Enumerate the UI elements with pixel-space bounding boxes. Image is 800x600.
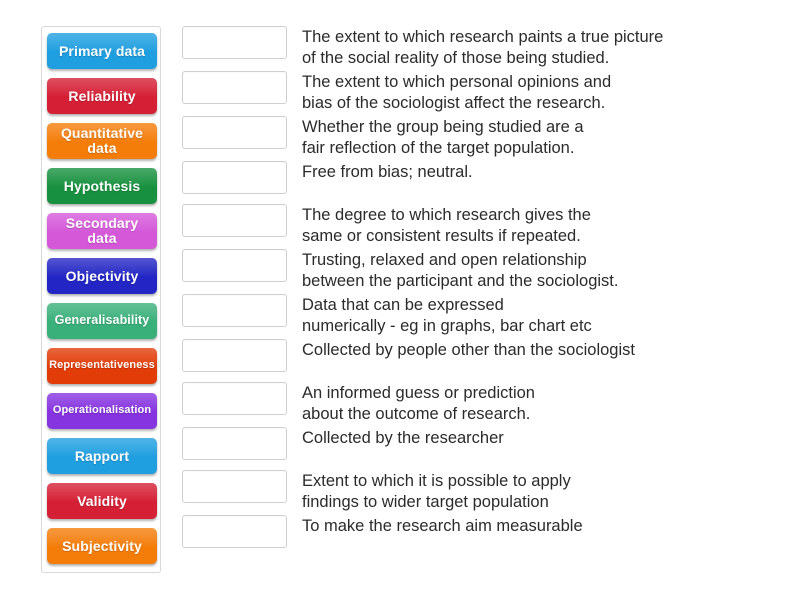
definition-row: To make the research aim measurable xyxy=(182,515,792,548)
term-tile[interactable]: Representativeness xyxy=(47,348,157,384)
term-tile[interactable]: Objectivity xyxy=(47,258,157,294)
term-tile-label: Validity xyxy=(77,494,127,509)
answer-drop-box[interactable] xyxy=(182,26,287,59)
answer-drop-box[interactable] xyxy=(182,470,287,503)
term-tile-label: Subjectivity xyxy=(62,539,142,554)
definition-row: Collected by people other than the socio… xyxy=(182,339,792,372)
definition-text: Data that can be expressed numerically -… xyxy=(302,294,792,337)
definition-row: The extent to which personal opinions an… xyxy=(182,71,792,114)
answer-drop-box[interactable] xyxy=(182,249,287,282)
term-tiles-panel: Primary dataReliabilityQuantitative data… xyxy=(41,26,161,573)
term-tile-label: Rapport xyxy=(75,449,129,464)
term-tile-label: Primary data xyxy=(59,44,145,59)
definition-text: An informed guess or prediction about th… xyxy=(302,382,792,425)
term-tile-label: Hypothesis xyxy=(64,179,140,194)
answer-drop-box[interactable] xyxy=(182,515,287,548)
term-tile-label: Secondary data xyxy=(66,216,139,245)
definition-row: Extent to which it is possible to apply … xyxy=(182,470,792,513)
definition-text: The extent to which research paints a tr… xyxy=(302,26,792,69)
term-tile[interactable]: Hypothesis xyxy=(47,168,157,204)
term-tile[interactable]: Subjectivity xyxy=(47,528,157,564)
match-up-activity: Primary dataReliabilityQuantitative data… xyxy=(0,0,800,600)
answer-drop-box[interactable] xyxy=(182,382,287,415)
answer-drop-box[interactable] xyxy=(182,204,287,237)
definition-rows-panel: The extent to which research paints a tr… xyxy=(182,26,792,558)
definition-row: Collected by the researcher xyxy=(182,427,792,460)
definition-text: To make the research aim measurable xyxy=(302,515,792,537)
answer-drop-box[interactable] xyxy=(182,161,287,194)
definition-row: Data that can be expressed numerically -… xyxy=(182,294,792,337)
term-tile[interactable]: Validity xyxy=(47,483,157,519)
definition-text: Whether the group being studied are a fa… xyxy=(302,116,792,159)
answer-drop-box[interactable] xyxy=(182,116,287,149)
definition-text: Collected by the researcher xyxy=(302,427,792,449)
term-tile-label: Generalisability xyxy=(55,314,150,327)
definition-text: Trusting, relaxed and open relationship … xyxy=(302,249,792,292)
term-tile[interactable]: Rapport xyxy=(47,438,157,474)
term-tile-label: Quantitative data xyxy=(61,126,143,155)
term-tile[interactable]: Secondary data xyxy=(47,213,157,249)
definition-text: Free from bias; neutral. xyxy=(302,161,792,183)
definition-text: The degree to which research gives the s… xyxy=(302,204,792,247)
term-tile-label: Representativeness xyxy=(49,360,155,372)
term-tile[interactable]: Quantitative data xyxy=(47,123,157,159)
answer-drop-box[interactable] xyxy=(182,427,287,460)
term-tile-label: Operationalisation xyxy=(53,405,151,417)
definition-text: Collected by people other than the socio… xyxy=(302,339,792,361)
term-tile[interactable]: Reliability xyxy=(47,78,157,114)
term-tile-label: Reliability xyxy=(68,89,135,104)
definition-row: The degree to which research gives the s… xyxy=(182,204,792,247)
definition-row: Free from bias; neutral. xyxy=(182,161,792,194)
term-tile[interactable]: Primary data xyxy=(47,33,157,69)
definition-row: Whether the group being studied are a fa… xyxy=(182,116,792,159)
term-tile[interactable]: Operationalisation xyxy=(47,393,157,429)
answer-drop-box[interactable] xyxy=(182,294,287,327)
definition-text: Extent to which it is possible to apply … xyxy=(302,470,792,513)
term-tile[interactable]: Generalisability xyxy=(47,303,157,339)
definition-row: Trusting, relaxed and open relationship … xyxy=(182,249,792,292)
definition-text: The extent to which personal opinions an… xyxy=(302,71,792,114)
answer-drop-box[interactable] xyxy=(182,71,287,104)
term-tile-label: Objectivity xyxy=(66,269,139,284)
definition-row: An informed guess or prediction about th… xyxy=(182,382,792,425)
definition-row: The extent to which research paints a tr… xyxy=(182,26,792,69)
answer-drop-box[interactable] xyxy=(182,339,287,372)
